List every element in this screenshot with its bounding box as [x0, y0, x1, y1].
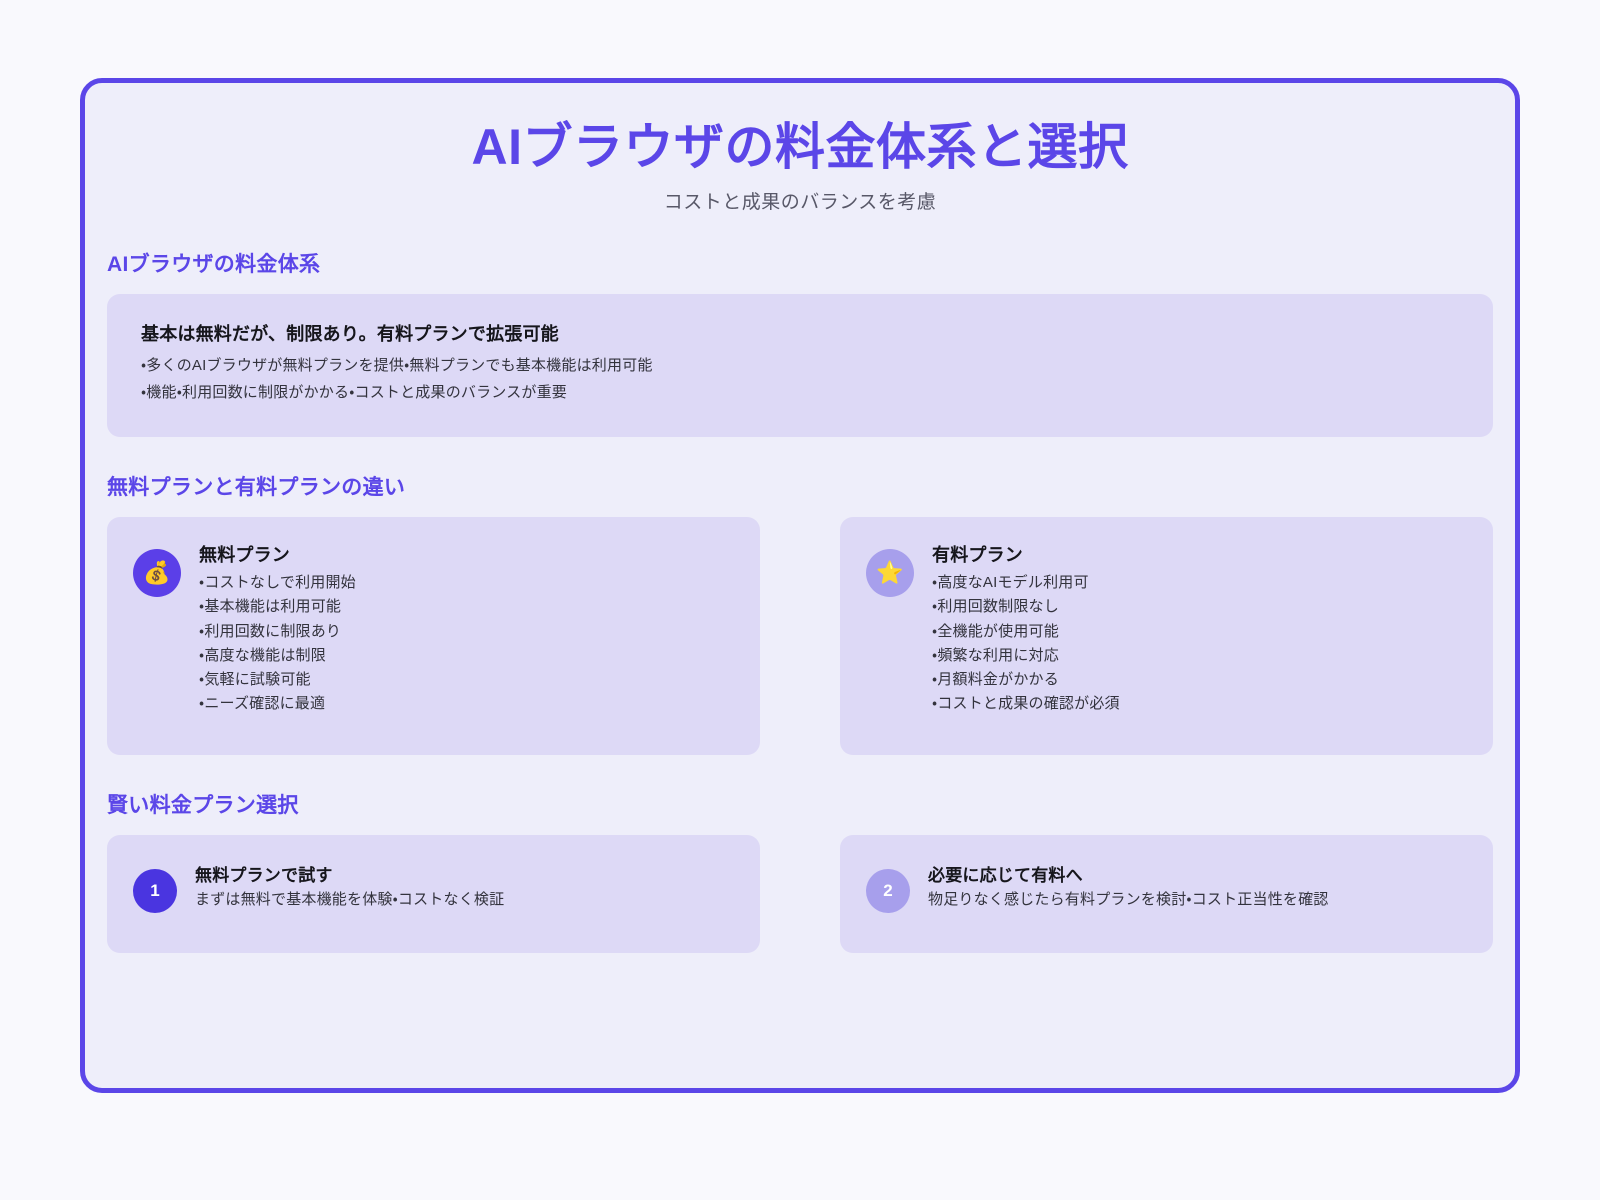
free-plan-bullets: コストなしで利用開始 基本機能は利用可能 利用回数に制限あり 高度な機能は制限 …	[199, 571, 734, 717]
list-item: コストと成果の確認が必須	[932, 692, 1467, 716]
step-number-badge: 2	[866, 869, 910, 913]
overview-card: 基本は無料だが、制限あり。有料プランで拡張可能 ・多くのAIブラウザが無料プラン…	[107, 294, 1493, 438]
section-heading-smart-selection: 賢い料金プラン選択	[107, 789, 1493, 819]
free-plan-card: 💰 無料プラン コストなしで利用開始 基本機能は利用可能 利用回数に制限あり 高…	[107, 517, 760, 755]
list-item: 頻繁な利用に対応	[932, 644, 1467, 668]
section-plan-comparison: 無料プランと有料プランの違い 💰 無料プラン コストなしで利用開始 基本機能は利…	[85, 471, 1515, 755]
list-item: 基本機能は利用可能	[199, 595, 734, 619]
list-item: コストなしで利用開始	[199, 571, 734, 595]
free-plan-title: 無料プラン	[199, 541, 734, 567]
step-2-title: 必要に応じて有料へ	[928, 861, 1467, 886]
overview-card-line: ・多くのAIブラウザが無料プランを提供・無料プランでも基本機能は利用可能	[141, 352, 1459, 380]
list-item: 高度なAIモデル利用可	[932, 571, 1467, 595]
step-1-body: 無料プランで試す まずは無料で基本機能を体験・コストなく検証	[195, 857, 734, 912]
step-2-description: 物足りなく感じたら有料プランを検討・コスト正当性を確認	[928, 888, 1467, 912]
infographic-panel: AIブラウザの料金体系と選択 コストと成果のバランスを考慮 AIブラウザの料金体…	[80, 78, 1520, 1093]
page-subtitle: コストと成果のバランスを考慮	[85, 187, 1515, 214]
section-heading-plan-comparison: 無料プランと有料プランの違い	[107, 471, 1493, 501]
money-bag-icon: 💰	[133, 549, 181, 597]
overview-card-line: ・機能・利用回数に制限がかかる・コストと成果のバランスが重要	[141, 379, 1459, 407]
list-item: 気軽に試験可能	[199, 668, 734, 692]
list-item: 利用回数制限なし	[932, 595, 1467, 619]
paid-plan-body: 有料プラン 高度なAIモデル利用可 利用回数制限なし 全機能が使用可能 頻繁な利…	[932, 539, 1467, 717]
free-plan-body: 無料プラン コストなしで利用開始 基本機能は利用可能 利用回数に制限あり 高度な…	[199, 539, 734, 717]
section-heading-pricing-overview: AIブラウザの料金体系	[107, 248, 1493, 278]
section-pricing-overview: AIブラウザの料金体系 基本は無料だが、制限あり。有料プランで拡張可能 ・多くの…	[85, 248, 1515, 438]
page-title: AIブラウザの料金体系と選択	[85, 119, 1515, 177]
overview-card-title: 基本は無料だが、制限あり。有料プランで拡張可能	[141, 320, 1459, 346]
steps-row: 1 無料プランで試す まずは無料で基本機能を体験・コストなく検証 2 必要に応じ…	[107, 835, 1493, 953]
step-card-2: 2 必要に応じて有料へ 物足りなく感じたら有料プランを検討・コスト正当性を確認	[840, 835, 1493, 953]
plan-comparison-row: 💰 無料プラン コストなしで利用開始 基本機能は利用可能 利用回数に制限あり 高…	[107, 517, 1493, 755]
star-icon: ⭐	[866, 549, 914, 597]
section-smart-selection: 賢い料金プラン選択 1 無料プランで試す まずは無料で基本機能を体験・コストなく…	[85, 789, 1515, 953]
paid-plan-title: 有料プラン	[932, 541, 1467, 567]
paid-plan-card: ⭐ 有料プラン 高度なAIモデル利用可 利用回数制限なし 全機能が使用可能 頻繁…	[840, 517, 1493, 755]
list-item: 月額料金がかかる	[932, 668, 1467, 692]
list-item: ニーズ確認に最適	[199, 692, 734, 716]
list-item: 高度な機能は制限	[199, 644, 734, 668]
step-number-badge: 1	[133, 869, 177, 913]
step-1-description: まずは無料で基本機能を体験・コストなく検証	[195, 888, 734, 912]
list-item: 全機能が使用可能	[932, 620, 1467, 644]
header: AIブラウザの料金体系と選択 コストと成果のバランスを考慮	[85, 83, 1515, 214]
step-1-title: 無料プランで試す	[195, 861, 734, 886]
step-2-body: 必要に応じて有料へ 物足りなく感じたら有料プランを検討・コスト正当性を確認	[928, 857, 1467, 912]
paid-plan-bullets: 高度なAIモデル利用可 利用回数制限なし 全機能が使用可能 頻繁な利用に対応 月…	[932, 571, 1467, 717]
list-item: 利用回数に制限あり	[199, 620, 734, 644]
step-card-1: 1 無料プランで試す まずは無料で基本機能を体験・コストなく検証	[107, 835, 760, 953]
